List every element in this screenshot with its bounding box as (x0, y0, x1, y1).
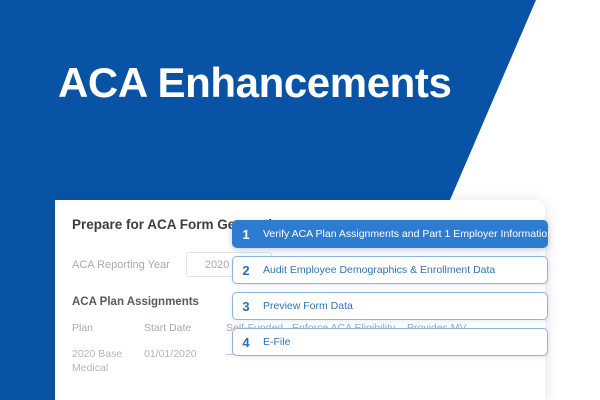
step-list: 1 Verify ACA Plan Assignments and Part 1… (232, 220, 548, 364)
step-number-3: 3 (233, 299, 259, 314)
step-label-3: Preview Form Data (263, 300, 353, 312)
cell-start-date: 01/01/2020 (144, 347, 226, 375)
step-label-1: Verify ACA Plan Assignments and Part 1 E… (263, 228, 553, 240)
step-item-1[interactable]: 1 Verify ACA Plan Assignments and Part 1… (232, 220, 548, 248)
reporting-year-label: ACA Reporting Year (72, 259, 170, 271)
column-header-plan: Plan (72, 322, 144, 334)
slide-canvas: ACA Enhancements Prepare for ACA Form Ge… (0, 0, 600, 400)
column-header-start-date: Start Date (144, 322, 226, 334)
step-item-4[interactable]: 4 E-File (232, 328, 548, 356)
reporting-year-value: 2020 (205, 259, 229, 271)
cell-plan: 2020 Base Medical (72, 347, 144, 375)
step-item-3[interactable]: 3 Preview Form Data (232, 292, 548, 320)
step-label-4: E-File (263, 336, 290, 348)
page-title: ACA Enhancements (58, 62, 451, 104)
step-number-4: 4 (233, 335, 259, 350)
step-number-2: 2 (233, 263, 259, 278)
step-number-1: 1 (233, 227, 259, 242)
step-item-2[interactable]: 2 Audit Employee Demographics & Enrollme… (232, 256, 548, 284)
plan-assignments-label: ACA Plan Assignments (72, 296, 199, 308)
step-label-2: Audit Employee Demographics & Enrollment… (263, 264, 495, 276)
hero-left-strip (0, 196, 55, 400)
